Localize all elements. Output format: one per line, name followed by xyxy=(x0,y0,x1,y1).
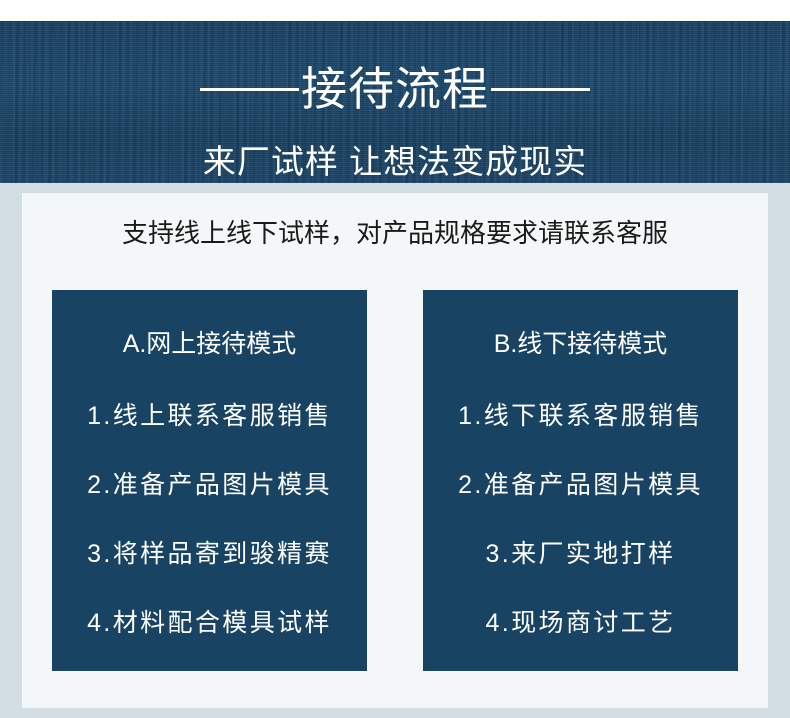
card-step-list: 1.线下联系客服销售 2.准备产品图片模具 3.来厂实地打样 4.现场商讨工艺 xyxy=(423,382,738,658)
card-title: A.网上接待模式 xyxy=(52,328,367,360)
page-subtitle: 来厂试样 让想法变成现实 xyxy=(0,141,790,183)
banner-title-row: 接待流程 xyxy=(0,58,790,120)
title-rule-left-icon xyxy=(200,88,299,91)
card-title: B.线下接待模式 xyxy=(423,328,738,360)
lead-text: 支持线上线下试样，对产品规格要求请联系客服 xyxy=(22,215,768,251)
card-online-reception: A.网上接待模式 1.线上联系客服销售 2.准备产品图片模具 3.将样品寄到骏精… xyxy=(52,290,367,671)
list-item: 2.准备产品图片模具 xyxy=(423,451,738,520)
page-root: 接待流程 来厂试样 让想法变成现实 支持线上线下试样，对产品规格要求请联系客服 … xyxy=(0,0,790,718)
list-item: 3.将样品寄到骏精赛 xyxy=(52,520,367,589)
content-outer-frame: 支持线上线下试样，对产品规格要求请联系客服 A.网上接待模式 1.线上联系客服销… xyxy=(0,183,790,718)
list-item: 2.准备产品图片模具 xyxy=(52,451,367,520)
header-banner: 接待流程 来厂试样 让想法变成现实 xyxy=(0,21,790,183)
list-item: 1.线上联系客服销售 xyxy=(52,382,367,451)
page-title: 接待流程 xyxy=(297,61,493,117)
process-cards: A.网上接待模式 1.线上联系客服销售 2.准备产品图片模具 3.将样品寄到骏精… xyxy=(52,290,738,671)
list-item: 3.来厂实地打样 xyxy=(423,520,738,589)
list-item: 4.现场商讨工艺 xyxy=(423,589,738,658)
list-item: 4.材料配合模具试样 xyxy=(52,589,367,658)
list-item: 1.线下联系客服销售 xyxy=(423,382,738,451)
card-step-list: 1.线上联系客服销售 2.准备产品图片模具 3.将样品寄到骏精赛 4.材料配合模… xyxy=(52,382,367,658)
title-rule-right-icon xyxy=(491,88,590,91)
content-panel: 支持线上线下试样，对产品规格要求请联系客服 A.网上接待模式 1.线上联系客服销… xyxy=(22,193,768,708)
card-offline-reception: B.线下接待模式 1.线下联系客服销售 2.准备产品图片模具 3.来厂实地打样 … xyxy=(423,290,738,671)
